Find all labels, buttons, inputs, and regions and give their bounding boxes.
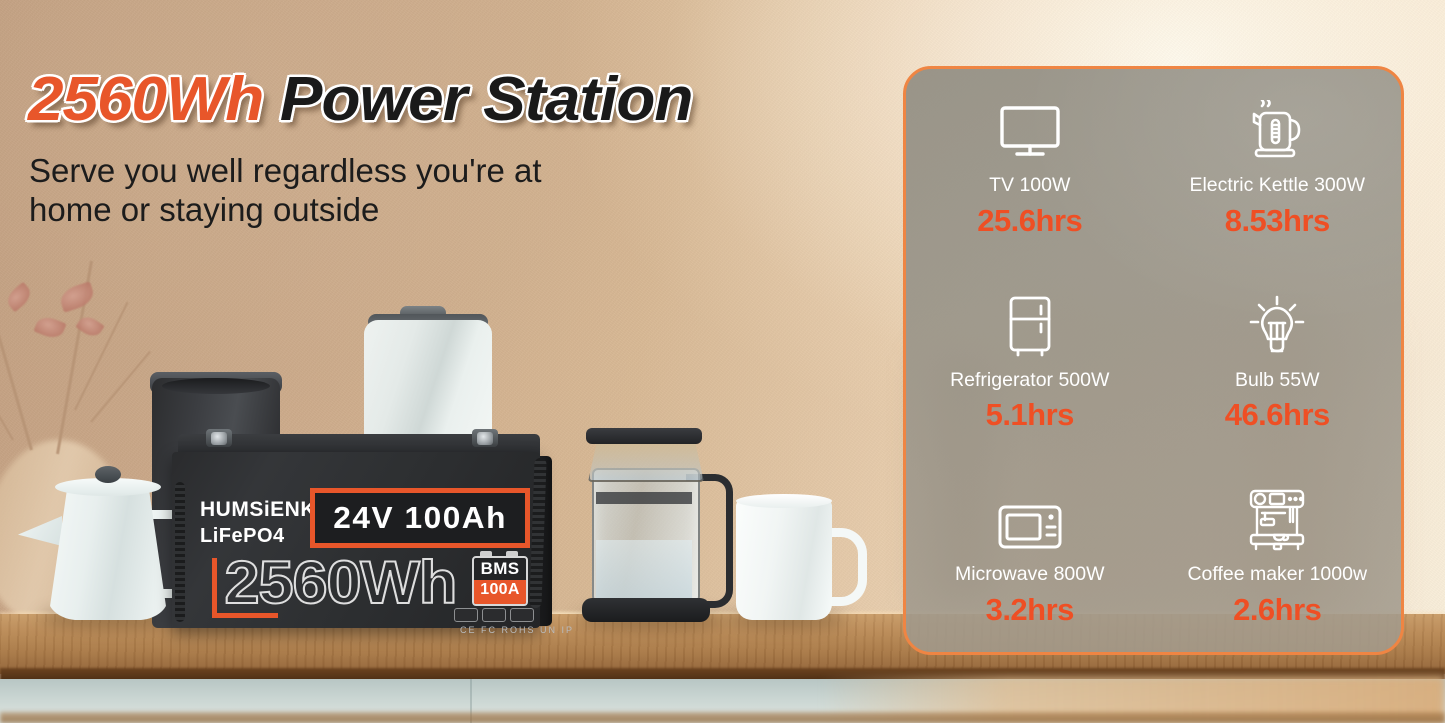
refrigerator-icon xyxy=(1006,295,1054,357)
carafe-lid xyxy=(586,428,702,444)
spec-badge-text: 24V 100Ah xyxy=(333,500,507,536)
appliance-runtime: 2.6hrs xyxy=(1233,594,1321,625)
bms-current: 100A xyxy=(474,580,526,604)
pictogram-2 xyxy=(482,608,506,622)
terminal-nut xyxy=(477,432,493,445)
headline-capacity: 2560Wh xyxy=(28,65,263,134)
carafe-band xyxy=(596,492,692,504)
appliance-runtime: 5.1hrs xyxy=(986,399,1074,430)
appliance-name: TV 100W xyxy=(989,176,1070,196)
light-bulb-icon xyxy=(1247,295,1307,357)
lifepo4-battery-product: HUMSiENK LiFePO4 24V 100Ah 2560Wh BMS 10… xyxy=(172,434,552,632)
headline-product: Power Station xyxy=(280,65,692,134)
battery-handle-strap-left xyxy=(175,482,185,622)
white-teapot xyxy=(48,488,168,620)
appliance-card-refrigerator: Refrigerator 500W 5.1hrs xyxy=(906,263,1154,457)
appliance-runtime: 46.6hrs xyxy=(1225,399,1330,430)
spec-badge: 24V 100Ah xyxy=(310,488,530,548)
cabinet-bottom-shadow xyxy=(0,712,1445,723)
page-title: 2560Wh Power Station xyxy=(28,64,692,135)
appliance-name: Electric Kettle 300W xyxy=(1189,176,1365,196)
capacity-corner-mark-vertical xyxy=(212,558,217,618)
white-mug xyxy=(736,500,832,620)
tv-icon xyxy=(998,100,1062,162)
battery-front-face: HUMSiENK LiFePO4 24V 100Ah 2560Wh BMS 10… xyxy=(172,452,540,628)
teapot-knob xyxy=(95,466,121,483)
battery-terminal-positive xyxy=(472,429,498,447)
terminal-nut xyxy=(211,432,227,445)
brand-logo: HUMSiENK xyxy=(200,498,316,522)
appliance-card-tv: TV 100W 25.6hrs xyxy=(906,69,1154,263)
appliance-card-electric-kettle: Electric Kettle 300W 8.53hrs xyxy=(1154,69,1402,263)
pictogram-3 xyxy=(510,608,534,622)
appliance-name: Bulb 55W xyxy=(1235,371,1320,391)
pictogram-row xyxy=(454,608,534,622)
appliance-name: Microwave 800W xyxy=(955,565,1105,585)
appliance-name: Coffee maker 1000w xyxy=(1187,565,1367,585)
microwave-icon xyxy=(997,489,1063,551)
carafe-water xyxy=(596,540,692,600)
appliance-runtime: 8.53hrs xyxy=(1225,205,1330,236)
subtitle: Serve you well regardless you're at home… xyxy=(29,152,629,229)
pictogram-1 xyxy=(454,608,478,622)
certification-marks: CE FC ROHS UN IP xyxy=(460,625,574,635)
appliance-name: Refrigerator 500W xyxy=(950,371,1109,391)
mug-rim xyxy=(736,494,832,508)
bms-label: BMS xyxy=(474,558,526,580)
bms-badge: BMS 100A xyxy=(472,556,528,606)
battery-terminal-negative xyxy=(206,429,232,447)
appliance-card-coffee-maker: Coffee maker 1000w 2.6hrs xyxy=(1154,458,1402,652)
battery-chemistry-label: LiFePO4 xyxy=(200,525,285,548)
carafe-base xyxy=(582,598,710,622)
carafe-neck xyxy=(588,440,704,482)
appliance-runtime: 3.2hrs xyxy=(986,594,1074,625)
coffee-maker-icon xyxy=(1245,489,1309,551)
appliance-card-microwave: Microwave 800W 3.2hrs xyxy=(906,458,1154,652)
electric-kettle-icon xyxy=(1246,100,1308,162)
appliance-card-bulb: Bulb 55W 46.6hrs xyxy=(1154,263,1402,457)
product-banner: HUMSiENK LiFePO4 24V 100Ah 2560Wh BMS 10… xyxy=(0,0,1445,723)
runtime-info-panel: TV 100W 25.6hrs El xyxy=(903,66,1404,655)
capacity-outline-text: 2560Wh xyxy=(224,548,456,617)
coffee-grinder-rim xyxy=(162,378,270,394)
appliance-grid: TV 100W 25.6hrs El xyxy=(906,69,1401,652)
appliance-runtime: 25.6hrs xyxy=(977,205,1082,236)
